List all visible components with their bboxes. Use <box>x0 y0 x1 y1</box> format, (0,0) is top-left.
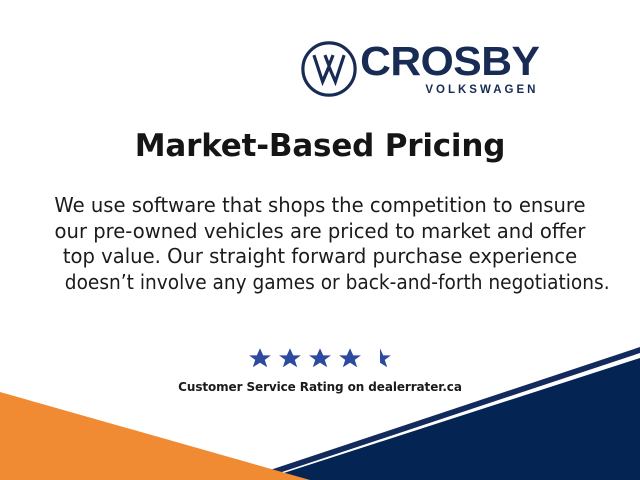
brand-subtitle: VOLKSWAGEN <box>425 84 538 96</box>
brand-name: CROSBY <box>360 42 539 81</box>
rating-caption: Customer Service Rating on dealerrater.c… <box>13 379 627 394</box>
body-paragraph: We use software that shops the competiti… <box>38 193 602 295</box>
star-rating <box>247 345 393 371</box>
star-icon <box>277 346 303 371</box>
orange-diagonal-wedge <box>0 392 310 480</box>
brand-wordmark: CROSBY VOLKSWAGEN <box>367 42 539 95</box>
body-line-2: our pre-owned vehicles are priced to mar… <box>51 219 590 245</box>
body-line-1: We use software that shops the competiti… <box>51 193 590 219</box>
page-title: Market-Based Pricing <box>0 128 640 164</box>
half-star-icon <box>367 346 393 371</box>
star-icon <box>337 346 363 371</box>
star-icon <box>307 346 333 371</box>
slide-canvas: CROSBY VOLKSWAGEN Market-Based Pricing W… <box>0 0 640 480</box>
customer-rating-block: Customer Service Rating on dealerrater.c… <box>0 345 640 394</box>
vw-roundel-icon <box>300 40 358 98</box>
body-line-4: doesn’t involve any games or back-and-fo… <box>65 270 575 296</box>
brand-logo-lockup: CROSBY VOLKSWAGEN <box>300 38 578 100</box>
body-line-3: top value. Our straight forward purchase… <box>51 244 590 270</box>
star-icon <box>247 346 273 371</box>
